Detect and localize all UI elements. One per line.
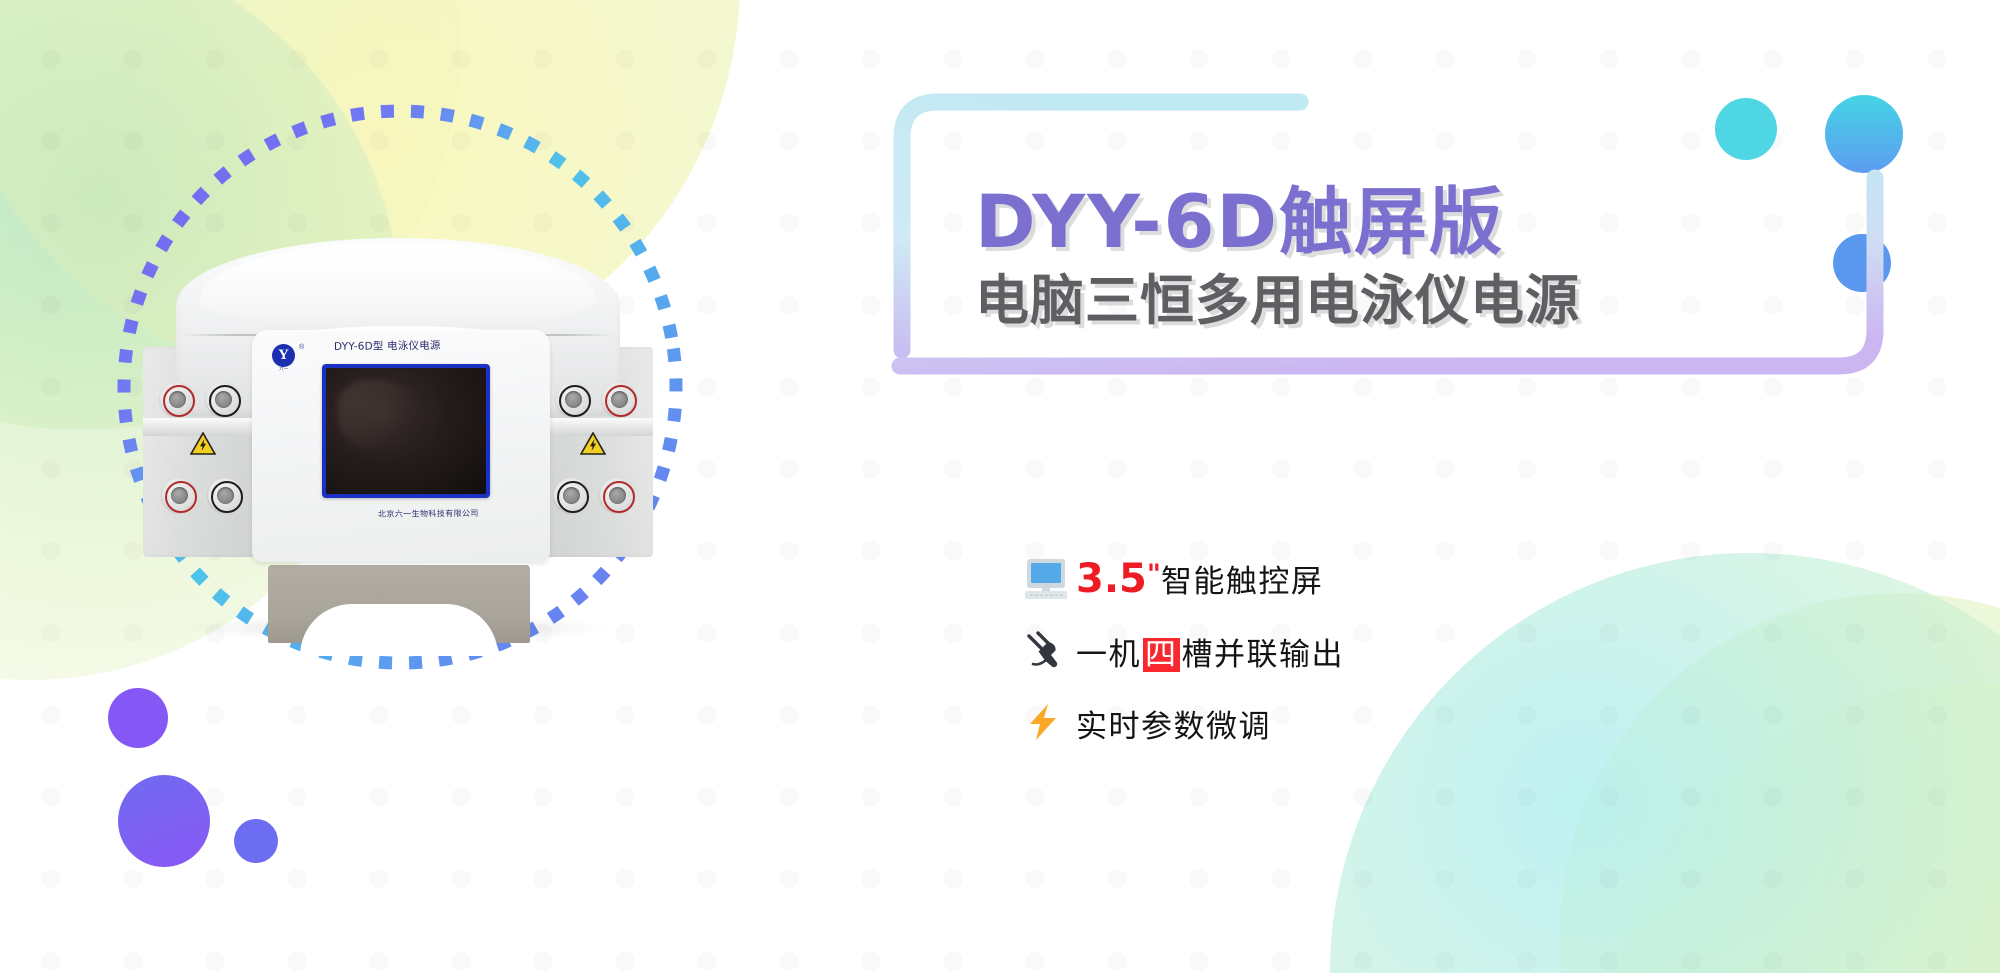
feature-label-suffix: 槽并联输出 bbox=[1182, 629, 1345, 674]
product-jack-black-bottom-right bbox=[554, 478, 588, 512]
feature-list: 3.5 " 智能触控屏 一机 四 槽并联输出 bbox=[1020, 543, 1840, 759]
product-warning-triangle-right bbox=[580, 432, 606, 456]
feature-item-parallel-output: 一机 四 槽并联输出 bbox=[1020, 615, 1840, 687]
product-jack-black-top-right bbox=[556, 382, 590, 416]
product-jack-red-bottom-right bbox=[600, 478, 634, 512]
feature-label-realtime-tuning: 实时参数微调 bbox=[1076, 701, 1271, 746]
product-jack-red-top-right bbox=[602, 382, 636, 416]
product-warning-triangle-left bbox=[190, 432, 216, 456]
feature-unit-inch: " bbox=[1147, 559, 1161, 590]
product-jack-red-top-left bbox=[160, 382, 194, 416]
product-jack-black-bottom-left bbox=[208, 478, 242, 512]
decor-circle-purple-small bbox=[108, 688, 168, 748]
feature-label-prefix: 一机 bbox=[1076, 629, 1141, 674]
product-company-label: 北京六一生物科技有限公司 bbox=[378, 507, 548, 519]
lightning-icon bbox=[1020, 701, 1076, 745]
feature-text-touchscreen: 3.5 " 智能触控屏 bbox=[1076, 556, 1323, 602]
product-image-dyy6d: Y ® 六一 DYY-6D型 电泳仪电源 北京六一生物科技有限公司 bbox=[148, 230, 648, 660]
feature-highlight-four: 四 bbox=[1143, 638, 1180, 673]
feature-text-realtime-tuning: 实时参数微调 bbox=[1076, 701, 1271, 746]
feature-text-parallel-output: 一机 四 槽并联输出 bbox=[1076, 629, 1344, 674]
banner-title: DYY-6D触屏版 bbox=[975, 185, 1935, 262]
plug-icon bbox=[1020, 629, 1076, 673]
product-model-label: DYY-6D型 电泳仪电源 bbox=[334, 337, 504, 355]
product-jack-red-bottom-left bbox=[162, 478, 196, 512]
banner-heading-group: DYY-6D触屏版 电脑三恒多用电泳仪电源 bbox=[975, 185, 1935, 330]
keyboard-shape bbox=[1025, 591, 1067, 599]
feature-item-realtime-tuning: 实时参数微调 bbox=[1020, 687, 1840, 759]
monitor-screen bbox=[1031, 563, 1061, 583]
decor-circle-purple-tiny bbox=[234, 819, 278, 863]
feature-value-screen-size: 3.5 bbox=[1076, 556, 1147, 602]
product-jack-black-top-left bbox=[206, 382, 240, 416]
banner-canvas: Y ® 六一 DYY-6D型 电泳仪电源 北京六一生物科技有限公司 bbox=[0, 0, 2000, 973]
logo-caption: 六一 bbox=[272, 366, 296, 372]
banner-subtitle: 电脑三恒多用电泳仪电源 bbox=[975, 272, 1935, 330]
feature-item-touchscreen: 3.5 " 智能触控屏 bbox=[1020, 543, 1840, 615]
product-base-cutout bbox=[300, 604, 498, 656]
logo-mark: Y bbox=[272, 344, 295, 367]
feature-label-touchscreen: 智能触控屏 bbox=[1161, 556, 1324, 601]
decor-circle-purple-large bbox=[118, 775, 210, 867]
monitor-icon bbox=[1020, 557, 1076, 601]
product-brand-logo: Y ® 六一 bbox=[272, 342, 314, 372]
registered-trademark-icon: ® bbox=[299, 344, 304, 351]
